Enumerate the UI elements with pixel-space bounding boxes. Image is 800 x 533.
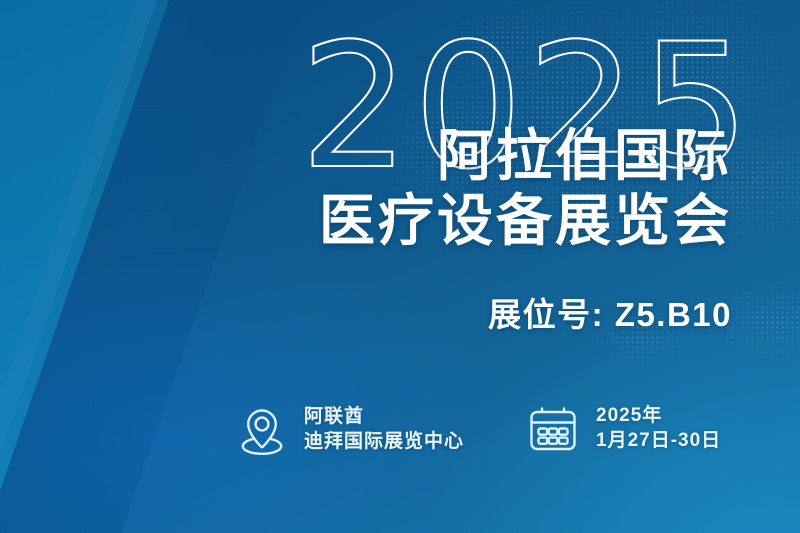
diagonal-band-mid <box>0 0 192 533</box>
info-strip: 阿联酋 迪拜国际展览中心 2025年 1 <box>236 402 740 458</box>
title-line-1: 阿拉伯国际 <box>319 124 732 189</box>
date-range: 1月27日-30日 <box>596 429 721 454</box>
diagonal-band-teal <box>0 0 224 533</box>
venue-info: 阿联酋 迪拜国际展览中心 <box>236 402 464 458</box>
venue-country: 阿联酋 <box>304 405 464 430</box>
title-line-2: 医疗设备展览会 <box>319 189 732 254</box>
diagonal-band-bright <box>0 0 16 533</box>
date-text: 2025年 1月27日-30日 <box>596 404 721 453</box>
date-info: 2025年 1月27日-30日 <box>526 402 721 456</box>
exhibition-poster: 2025 阿拉伯国际 医疗设备展览会 展位号: Z5.B10 阿联酋 迪拜国际展… <box>0 0 800 533</box>
date-year: 2025年 <box>596 404 721 429</box>
calendar-icon <box>526 402 580 456</box>
venue-name: 迪拜国际展览中心 <box>304 430 464 455</box>
venue-text: 阿联酋 迪拜国际展览中心 <box>304 405 464 454</box>
diagonal-band-thin-accent <box>0 0 212 533</box>
location-pin-icon <box>236 402 288 458</box>
booth-number: 展位号: Z5.B10 <box>488 288 732 336</box>
poster-title: 阿拉伯国际 医疗设备展览会 <box>319 124 732 254</box>
